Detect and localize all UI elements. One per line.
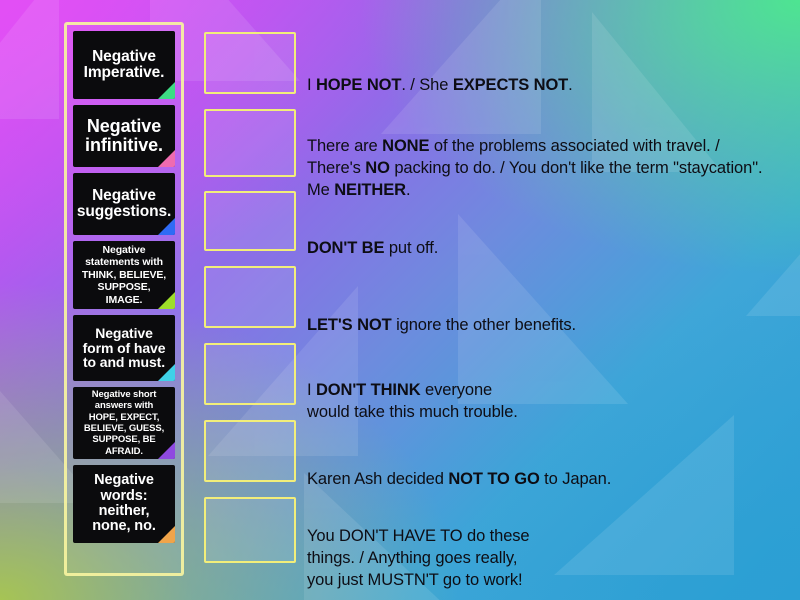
category-tile-2[interactable]: Negative infinitive.	[73, 105, 175, 167]
answer-4: LET'S NOT ignore the other benefits.	[307, 294, 769, 356]
drop-zone-3[interactable]	[204, 191, 296, 251]
tile-corner-triangle-icon	[158, 218, 175, 235]
answer-2: There are NONE of the problems associate…	[307, 126, 769, 210]
answer-text: DON'T BE put off.	[307, 237, 438, 259]
category-tile-label: Negative suggestions.	[77, 188, 171, 221]
answer-text: Karen Ash decided NOT TO GO to Japan.	[307, 468, 611, 490]
drop-zone-6[interactable]	[204, 420, 296, 482]
category-tile-6[interactable]: Negative short answers with HOPE, EXPECT…	[73, 387, 175, 459]
category-tile-label: Negative words: neither, none, no.	[79, 473, 169, 534]
answer-text: LET'S NOT ignore the other benefits.	[307, 314, 576, 336]
category-tile-3[interactable]: Negative suggestions.	[73, 173, 175, 235]
category-tile-column: Negative Imperative.Negative infinitive.…	[64, 22, 184, 576]
answer-7: You DON'T HAVE TO do thesethings. / Anyt…	[307, 518, 769, 598]
answer-1: I HOPE NOT. / She EXPECTS NOT.	[307, 54, 769, 116]
answer-5: I DON'T THINK everyonewould take this mu…	[307, 368, 769, 434]
drop-zone-1[interactable]	[204, 32, 296, 94]
tile-corner-triangle-icon	[158, 82, 175, 99]
category-tile-4[interactable]: Negative statements with THINK, BELIEVE,…	[73, 241, 175, 309]
drop-zone-2[interactable]	[204, 109, 296, 177]
category-tile-label: Negative form of have to and must.	[79, 326, 169, 370]
drop-zone-4[interactable]	[204, 266, 296, 328]
answer-3: DON'T BE put off.	[307, 218, 769, 278]
category-tile-label: Negative Imperative.	[79, 49, 169, 82]
drop-zone-column	[204, 32, 296, 576]
category-tile-label: Negative statements with THINK, BELIEVE,…	[79, 244, 169, 306]
category-tile-5[interactable]: Negative form of have to and must.	[73, 315, 175, 381]
answer-text: I HOPE NOT. / She EXPECTS NOT.	[307, 74, 573, 96]
category-tile-7[interactable]: Negative words: neither, none, no.	[73, 465, 175, 543]
answer-text: There are NONE of the problems associate…	[307, 135, 769, 201]
drop-zone-5[interactable]	[204, 343, 296, 405]
drop-zone-7[interactable]	[204, 497, 296, 563]
answer-text: I DON'T THINK everyonewould take this mu…	[307, 379, 518, 423]
category-tile-label: Negative short answers with HOPE, EXPECT…	[79, 389, 169, 457]
answer-column: I HOPE NOT. / She EXPECTS NOT.There are …	[307, 26, 777, 582]
answer-6: Karen Ash decided NOT TO GO to Japan.	[307, 448, 769, 510]
category-tile-1[interactable]: Negative Imperative.	[73, 31, 175, 99]
answer-text: You DON'T HAVE TO do thesethings. / Anyt…	[307, 525, 530, 591]
category-tile-label: Negative infinitive.	[79, 117, 169, 155]
